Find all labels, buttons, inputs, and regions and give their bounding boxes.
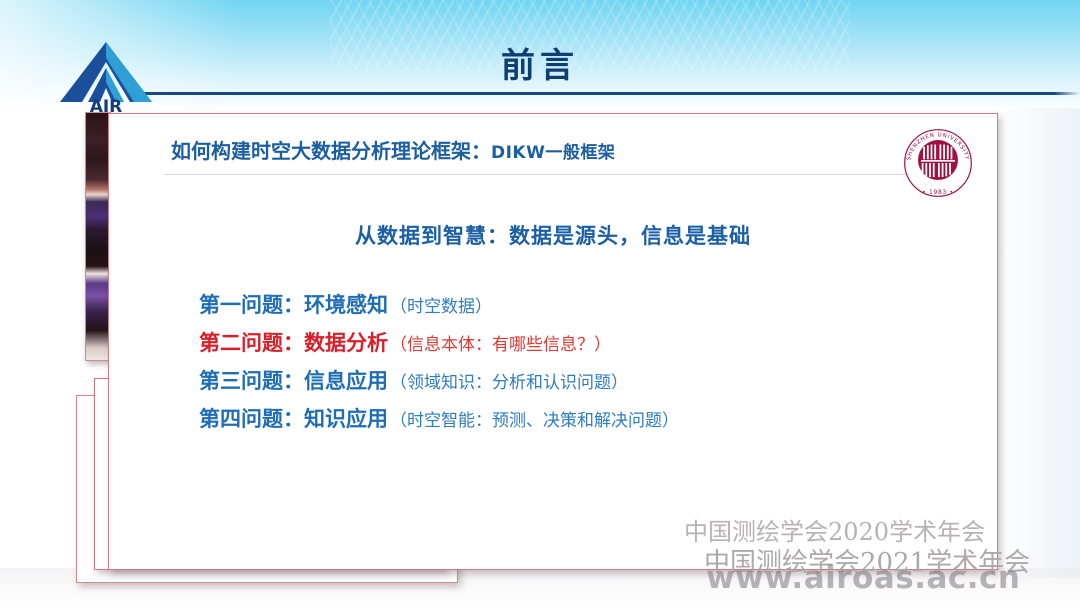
slide-heading-tail: DIKW一般框架	[491, 143, 615, 163]
slide-subtitle: 从数据到智慧：数据是源头，信息是基础	[109, 220, 997, 250]
question-1-note: （时空数据）	[390, 297, 492, 317]
title-divider-rule-fade	[1054, 92, 1080, 95]
site-watermark: www.airoas.ac.cn	[706, 560, 1021, 596]
slide-root: 前言 AIR 中国测绘学会2020学术年会 如何构建时空大数据分析理论框架：DI…	[0, 0, 1080, 607]
question-2-head: 第二问题：数据分析	[199, 331, 388, 355]
title-divider-rule	[138, 92, 1054, 95]
seal-year-text: • 1983 •	[922, 190, 954, 196]
question-4-head: 第四问题：知识应用	[199, 407, 388, 431]
question-item-3: 第三问题：信息应用（领域知识：分析和认识问题）	[199, 362, 959, 400]
page-title: 前言	[0, 38, 1080, 87]
air-logo: AIR	[52, 36, 160, 116]
question-3-head: 第三问题：信息应用	[199, 369, 388, 393]
question-item-1: 第一问题：环境感知（时空数据）	[199, 286, 959, 324]
slide-heading-main: 如何构建时空大数据分析理论框架：	[171, 139, 491, 163]
question-1-head: 第一问题：环境感知	[199, 293, 388, 317]
slide-heading-underline	[164, 174, 932, 175]
question-item-4: 第四问题：知识应用（时空智能：预测、决策和解决问题）	[199, 400, 959, 438]
question-item-2: 第二问题：数据分析（信息本体：有哪些信息？）	[199, 324, 959, 362]
question-2-note: （信息本体：有哪些信息？）	[390, 335, 611, 355]
question-list: 第一问题：环境感知（时空数据） 第二问题：数据分析（信息本体：有哪些信息？） 第…	[199, 286, 959, 438]
slide-heading: 如何构建时空大数据分析理论框架：DIKW一般框架	[171, 135, 615, 164]
question-3-note: （领域知识：分析和认识问题）	[390, 373, 628, 393]
shenzhen-university-seal-icon: SHENZHEN UNIVERSITY • 1983 •	[901, 126, 975, 200]
main-slide-panel: 如何构建时空大数据分析理论框架：DIKW一般框架 从数据到智慧：数据是源头，信息…	[108, 113, 998, 570]
question-4-note: （时空智能：预测、决策和解决问题）	[390, 411, 679, 431]
right-edge-shading	[994, 108, 1080, 578]
